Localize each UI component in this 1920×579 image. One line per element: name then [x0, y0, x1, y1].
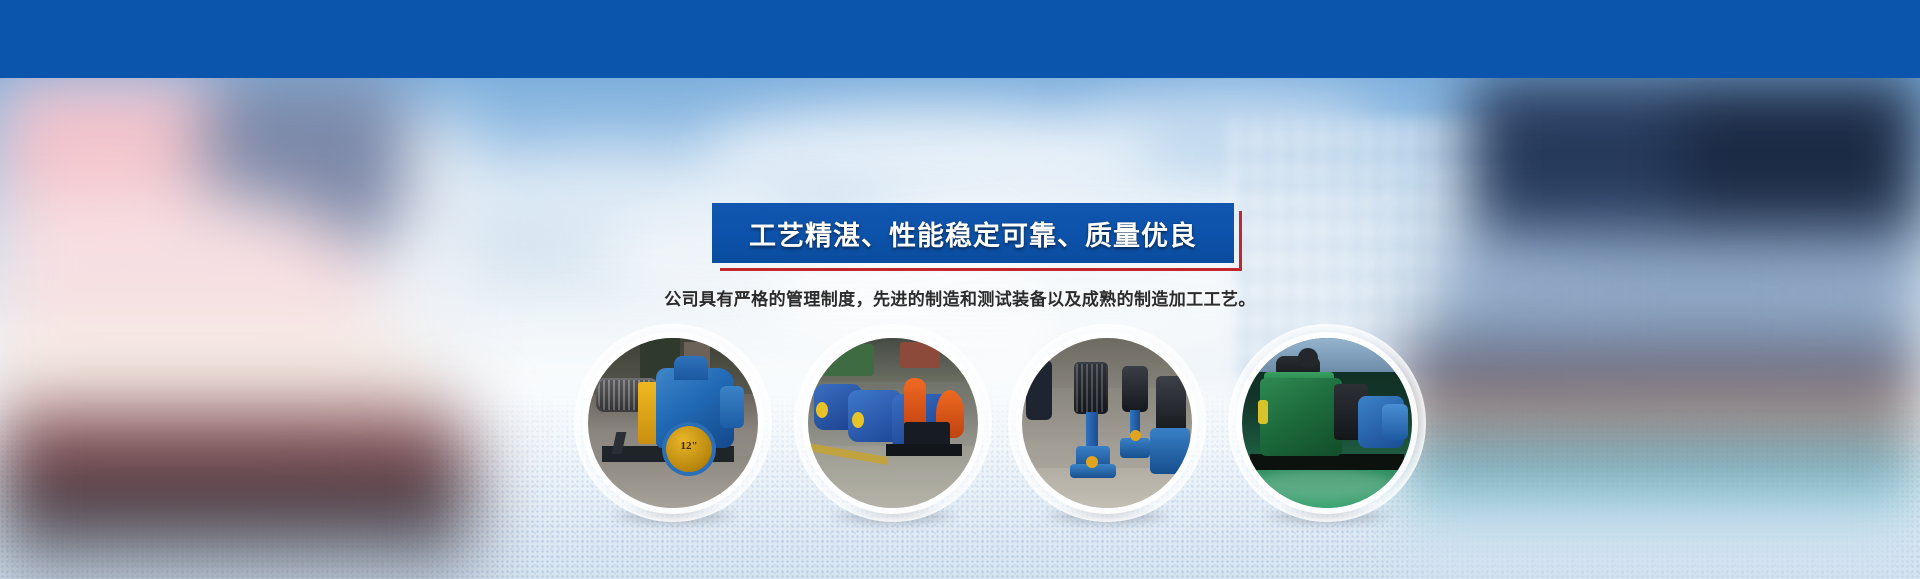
top-blue-bar	[0, 0, 1920, 78]
pump-size-label: 12"	[666, 440, 712, 452]
product-circle-split-case-pump[interactable]: 12"	[588, 338, 758, 508]
product-photo-1: 12"	[588, 338, 758, 508]
product-circle-vertical-inline-pumps[interactable]	[1022, 338, 1192, 508]
product-photo-2	[808, 338, 978, 508]
headline-text: 工艺精湛、性能稳定可靠、质量优良	[749, 214, 1197, 253]
product-circle-diesel-engine-pump-set[interactable]	[1242, 338, 1412, 508]
headline-blue-box: 工艺精湛、性能稳定可靠、质量优良	[712, 203, 1234, 263]
product-photo-4	[1242, 338, 1412, 508]
subtitle-text: 公司具有严格的管理制度，先进的制造和测试装备以及成熟的制造加工工艺。	[0, 285, 1920, 310]
product-circle-slurry-pump-row[interactable]	[808, 338, 978, 508]
headline-banner: 工艺精湛、性能稳定可靠、质量优良	[712, 203, 1234, 263]
product-photo-row: 12"	[0, 338, 1920, 538]
pump-nameplate: 12"	[666, 426, 712, 472]
product-photo-3	[1022, 338, 1192, 508]
promo-banner: 工艺精湛、性能稳定可靠、质量优良 公司具有严格的管理制度，先进的制造和测试装备以…	[0, 0, 1920, 579]
